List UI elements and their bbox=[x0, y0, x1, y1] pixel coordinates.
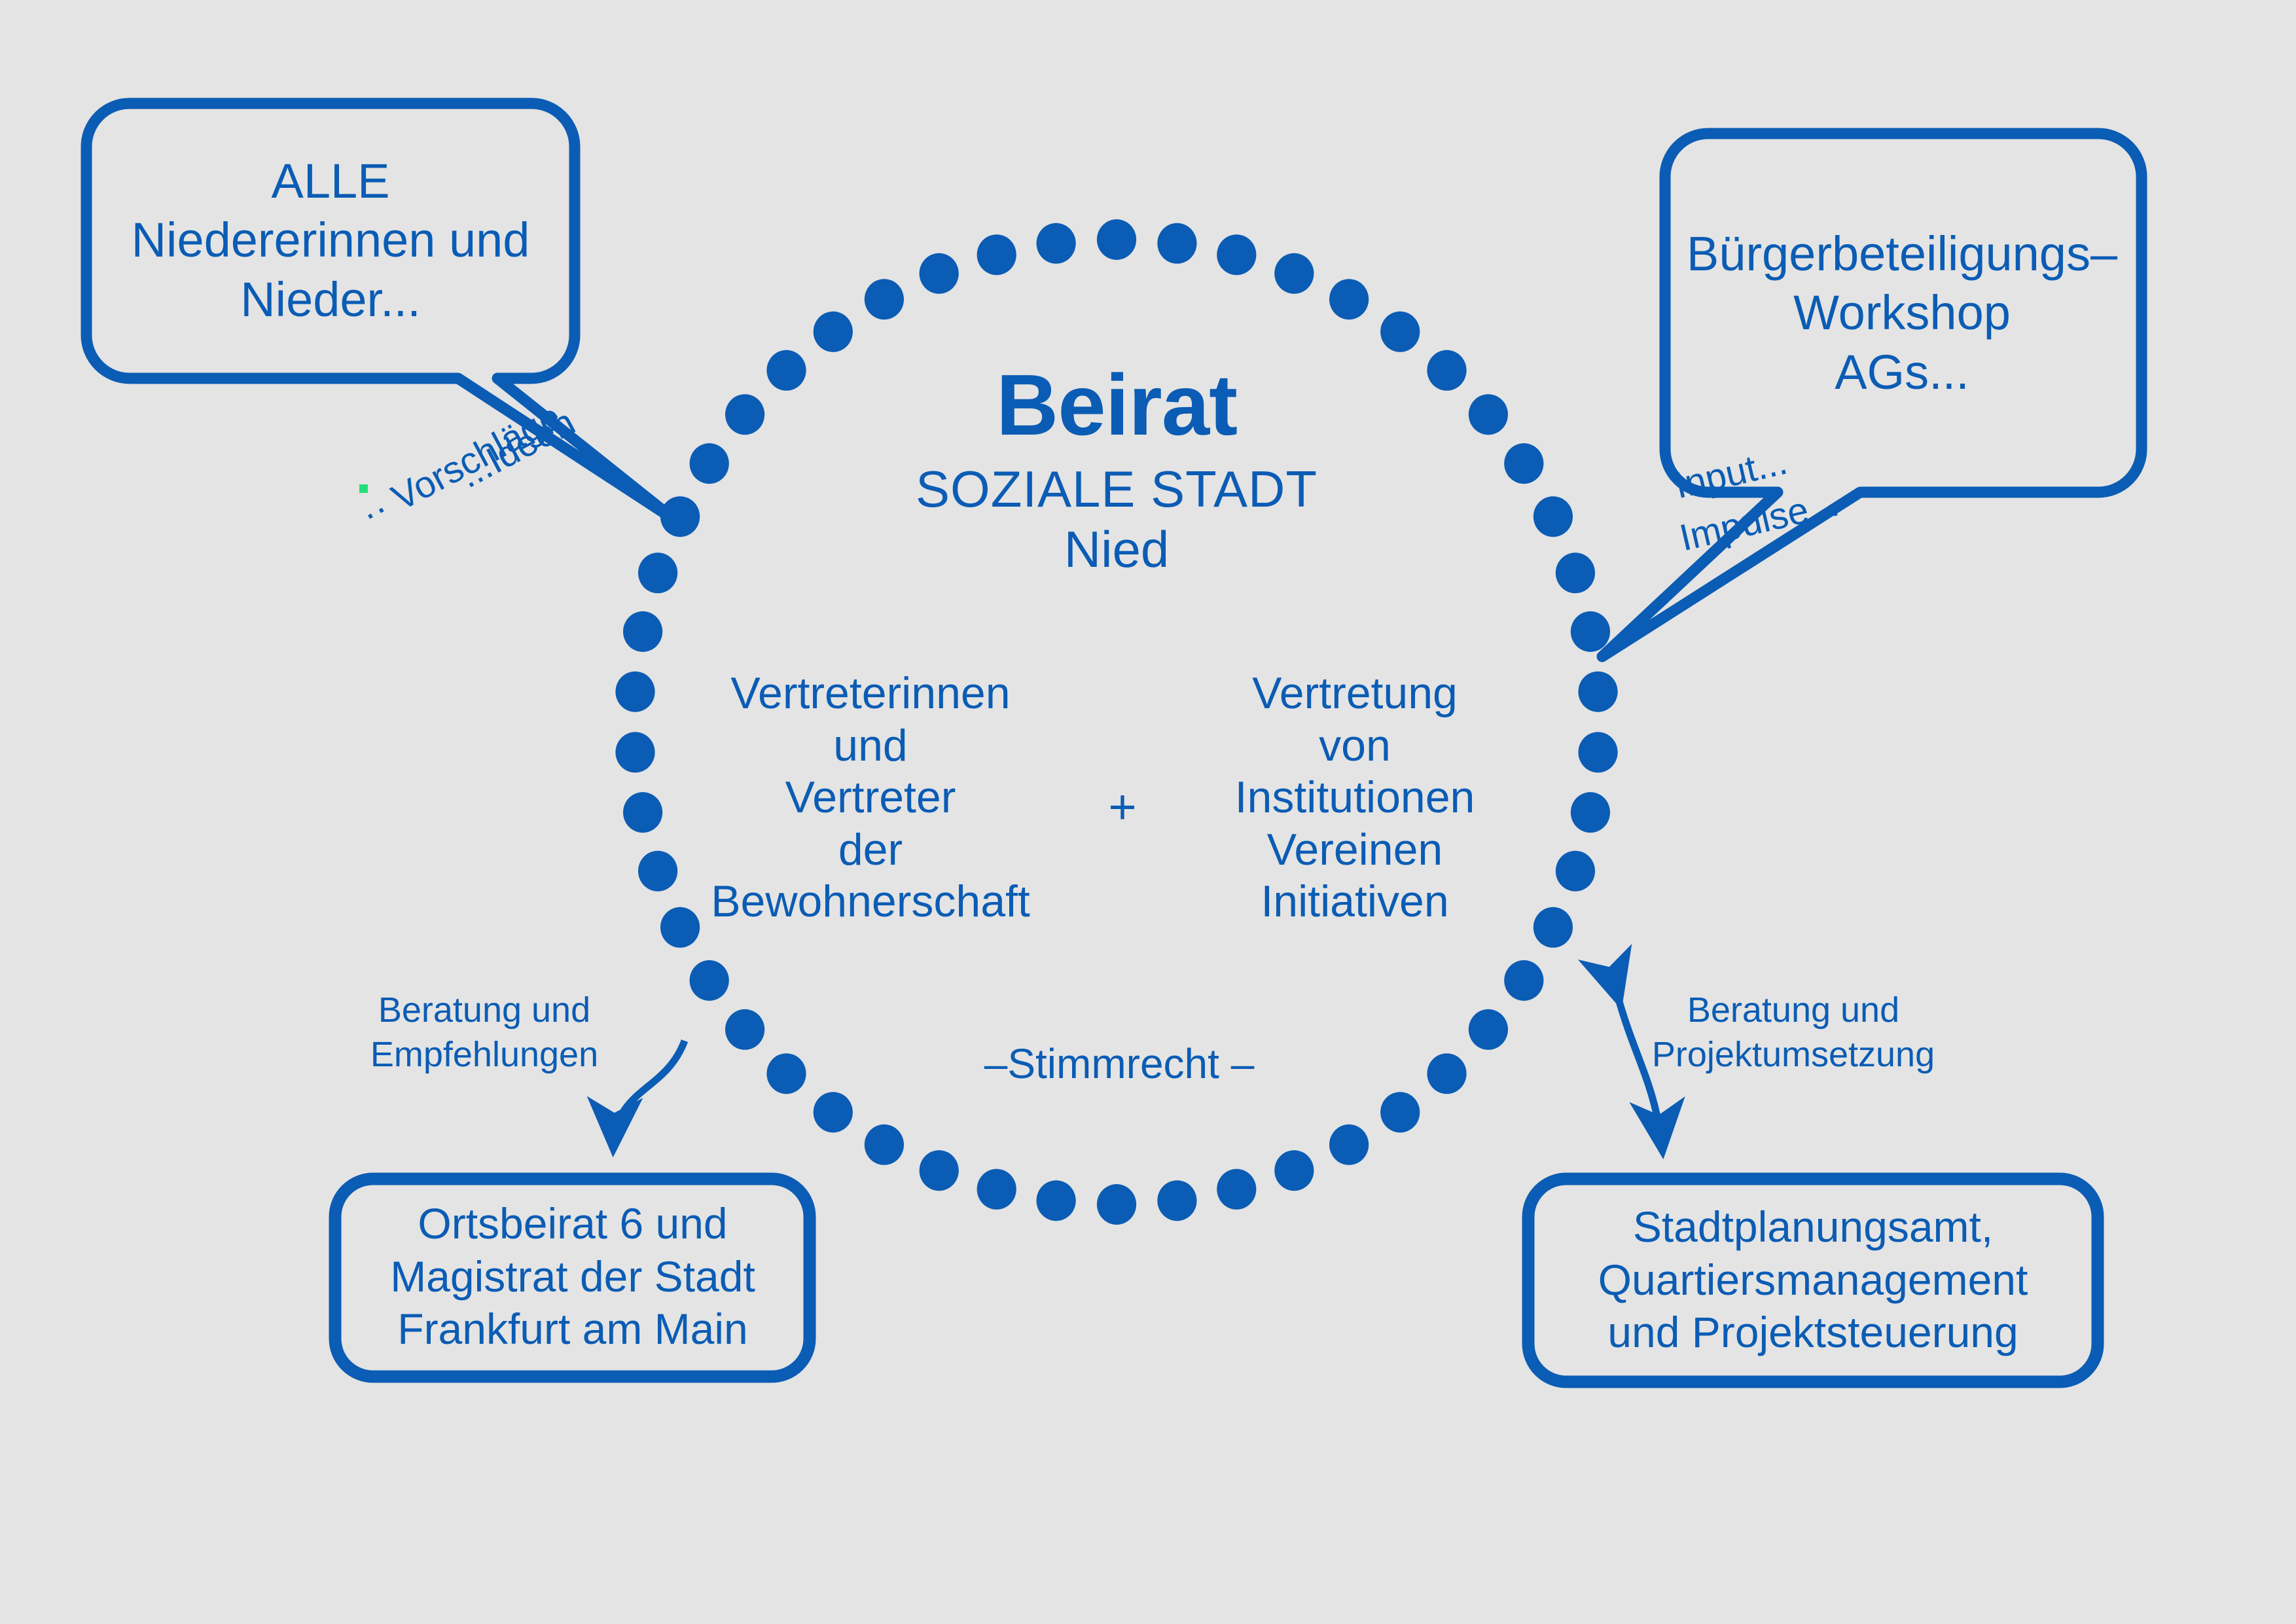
center-right-line-4: Vereinen bbox=[1172, 824, 1538, 876]
center-left-line-1: Vertreterinnen bbox=[661, 668, 1080, 720]
ring-dot bbox=[920, 1150, 959, 1191]
ring-dot bbox=[1217, 1169, 1256, 1210]
center-left-line-2: und bbox=[661, 720, 1080, 772]
ring-dot bbox=[1380, 312, 1420, 352]
ring-dot bbox=[725, 1009, 764, 1050]
ring-dot bbox=[1329, 279, 1369, 319]
ring-dot bbox=[1157, 1180, 1196, 1221]
center-left-line-3: Vertreter bbox=[661, 772, 1080, 824]
box-bl-line-2: Magistrat der Stadt bbox=[390, 1250, 755, 1303]
ring-dot bbox=[1578, 732, 1617, 772]
ring-dot bbox=[623, 611, 662, 652]
ring-dot bbox=[615, 732, 655, 772]
speech-bubble-top-right-text: Bürgerbeteiligungs– Workshop AGs... bbox=[1670, 135, 2134, 492]
ring-dot bbox=[1274, 253, 1314, 294]
label-bl-line-2: Empfehlungen bbox=[340, 1033, 628, 1077]
center-right-line-2: von bbox=[1172, 720, 1538, 772]
ring-dot bbox=[690, 960, 729, 1001]
label-bl-line-1: Beratung und bbox=[340, 988, 628, 1033]
ring-dot bbox=[623, 792, 662, 833]
ring-dot bbox=[1578, 672, 1617, 712]
ring-dot bbox=[1217, 234, 1256, 275]
ring-dot bbox=[865, 1125, 904, 1165]
label-beratung-empfehlungen: Beratung und Empfehlungen bbox=[340, 988, 628, 1077]
label-beratung-projektumsetzung: Beratung und Projektumsetzung bbox=[1623, 988, 1964, 1077]
bubble-right-line-3: AGs... bbox=[1835, 343, 1969, 402]
ring-dot bbox=[1097, 219, 1136, 260]
bubble-left-line-2: Niedererinnen und bbox=[132, 211, 530, 270]
ring-dot bbox=[1504, 443, 1543, 484]
ring-dot bbox=[1534, 907, 1573, 948]
ring-dot bbox=[1556, 851, 1595, 892]
center-right-line-3: Institutionen bbox=[1172, 772, 1538, 824]
ring-dot bbox=[1571, 792, 1610, 833]
page-title: Beirat bbox=[737, 361, 1496, 450]
ring-dot bbox=[638, 552, 677, 593]
center-left-column: Vertreterinnen und Vertreter der Bewohne… bbox=[661, 668, 1080, 928]
ring-dot bbox=[814, 312, 853, 352]
ring-dot bbox=[814, 1092, 853, 1132]
center-right-column: Vertretung von Institutionen Vereinen In… bbox=[1172, 668, 1538, 928]
diagram-canvas: ALLE Niedererinnen und Nieder... Bürgerb… bbox=[0, 0, 2296, 1624]
ring-dot bbox=[1329, 1125, 1369, 1165]
ring-dot bbox=[1380, 1092, 1420, 1132]
bubble-left-line-1: ALLE bbox=[271, 152, 389, 211]
ring-dot bbox=[1274, 1150, 1314, 1191]
box-br-line-3: und Projektsteuerung bbox=[1607, 1306, 2018, 1359]
bubble-left-line-3: Nieder... bbox=[240, 270, 421, 329]
ring-dot bbox=[1534, 496, 1573, 537]
center-subtitle-line-1: SOZIALE STADT bbox=[737, 459, 1496, 519]
ring-dot bbox=[1037, 223, 1076, 264]
center-right-line-5: Initiativen bbox=[1172, 876, 1538, 928]
plus-operator: + bbox=[1086, 779, 1158, 835]
ring-dot bbox=[977, 1169, 1016, 1210]
label-br-line-2: Projektumsetzung bbox=[1623, 1033, 1964, 1077]
green-accent-dot bbox=[359, 484, 368, 493]
stimmrecht-note: –Stimmrecht – bbox=[916, 1039, 1322, 1088]
box-bl-line-1: Ortsbeirat 6 und bbox=[418, 1197, 727, 1250]
ring-dot bbox=[920, 253, 959, 294]
box-br-line-1: Stadtplanungsamt, bbox=[1633, 1200, 1993, 1254]
ring-dot bbox=[615, 672, 655, 712]
ring-dot bbox=[977, 234, 1016, 275]
ring-dot bbox=[1556, 552, 1595, 593]
box-bl-line-3: Frankfurt am Main bbox=[397, 1303, 747, 1356]
speech-bubble-top-left-text: ALLE Niedererinnen und Nieder... bbox=[92, 105, 569, 376]
ring-dot bbox=[1157, 223, 1196, 264]
center-left-line-4: der bbox=[661, 824, 1080, 876]
ring-dot bbox=[865, 279, 904, 319]
center-heading: Beirat SOZIALE STADT Nied bbox=[737, 361, 1496, 579]
ring-dot bbox=[1427, 1053, 1466, 1094]
center-right-line-1: Vertretung bbox=[1172, 668, 1538, 720]
box-br-line-2: Quartiersmanagement bbox=[1598, 1254, 2028, 1307]
ring-dot bbox=[1097, 1184, 1136, 1225]
ring-dot bbox=[690, 443, 729, 484]
ring-dot bbox=[1037, 1180, 1076, 1221]
box-ortsbeirat-text: Ortsbeirat 6 und Magistrat der Stadt Fra… bbox=[337, 1178, 808, 1375]
center-left-line-5: Bewohnerschaft bbox=[661, 876, 1080, 928]
center-subtitle-line-2: Nied bbox=[737, 519, 1496, 579]
ring-dot bbox=[766, 1053, 806, 1094]
ring-dot bbox=[1571, 611, 1610, 652]
box-stadtplanungsamt-text: Stadtplanungsamt, Quartiersmanagement un… bbox=[1532, 1178, 2094, 1381]
label-br-line-1: Beratung und bbox=[1623, 988, 1964, 1033]
ring-dot bbox=[1469, 1009, 1508, 1050]
bubble-right-line-2: Workshop bbox=[1793, 283, 2011, 342]
bubble-right-line-1: Bürgerbeteiligungs– bbox=[1687, 225, 2117, 283]
ring-dot bbox=[1504, 960, 1543, 1001]
